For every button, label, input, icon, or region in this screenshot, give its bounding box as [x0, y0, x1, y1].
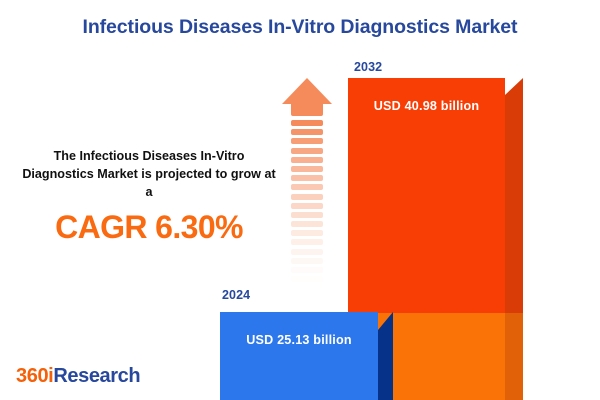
arrow-stripe: [291, 148, 323, 154]
bar-older-value-label: USD 25.13 billion: [220, 333, 378, 347]
arrow-stripe: [291, 120, 323, 126]
arrow-stripe: [291, 175, 323, 181]
growth-arrow-icon: [282, 78, 332, 293]
arrow-stripe: [291, 203, 323, 209]
arrow-stripe: [291, 230, 323, 236]
arrow-stripe: [291, 285, 323, 291]
arrow-stripe: [291, 249, 323, 255]
logo-text-360: 360: [16, 365, 48, 387]
bar-older-front-face: [220, 312, 378, 400]
cagr-value: CAGR 6.30%: [18, 211, 280, 245]
arrow-stripe: [291, 267, 323, 273]
bar-newer-front-face-upper: [348, 78, 505, 313]
logo-text-research: Research: [53, 365, 140, 387]
bar-older-side-face: [378, 312, 393, 400]
arrow-neck-shape: [291, 104, 323, 116]
infographic-canvas: Infectious Diseases In-Vitro Diagnostics…: [0, 0, 600, 400]
arrow-stripe: [291, 194, 323, 200]
arrow-stripe: [291, 212, 323, 218]
arrow-stripe: [291, 157, 323, 163]
brand-logo: 360iResearch: [16, 365, 140, 388]
arrow-stripe: [291, 276, 323, 282]
arrow-stripe: [291, 129, 323, 135]
bar-older: USD 25.13 billion: [220, 312, 393, 400]
bar-newer-side-face-lower: [505, 313, 523, 400]
arrow-stripe: [291, 221, 323, 227]
bar-label-newer: 2032: [354, 60, 382, 74]
narrative-text: The Infectious Diseases In-Vitro Diagnos…: [18, 148, 280, 202]
narrative-block: The Infectious Diseases In-Vitro Diagnos…: [18, 148, 280, 244]
arrow-stripe: [291, 258, 323, 264]
arrow-stripe: [291, 239, 323, 245]
bar-newer-value-label: USD 40.98 billion: [348, 99, 505, 113]
bar-label-older: 2024: [222, 288, 250, 302]
arrow-stripe: [291, 166, 323, 172]
arrow-stripe: [291, 138, 323, 144]
arrow-stripe: [291, 184, 323, 190]
arrow-head-icon: [282, 78, 332, 104]
page-title: Infectious Diseases In-Vitro Diagnostics…: [0, 16, 600, 39]
arrow-stripes-group: [291, 120, 323, 293]
